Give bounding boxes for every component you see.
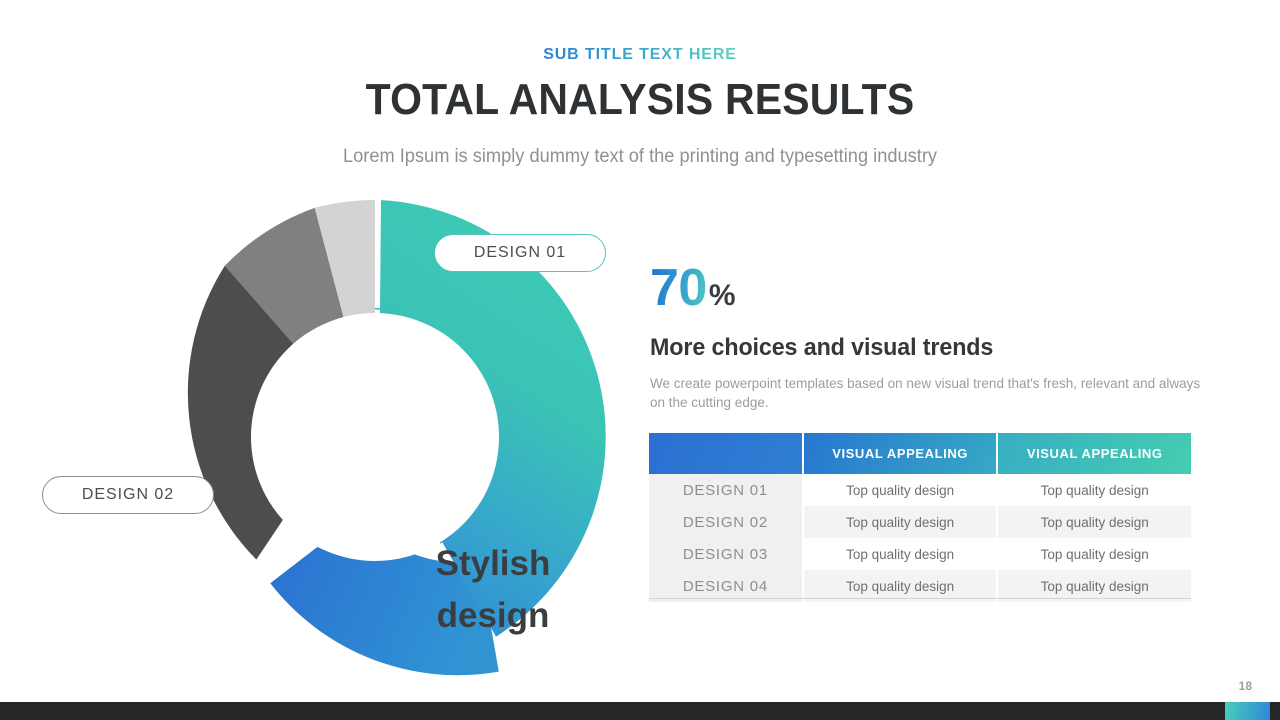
table-cell: Top quality design bbox=[803, 474, 998, 506]
table-header-blank bbox=[649, 433, 803, 474]
table-row[interactable]: DESIGN 01 Top quality design Top quality… bbox=[649, 474, 1191, 506]
stat-percentage-symbol: % bbox=[709, 281, 736, 311]
slide-header: SUB TITLE TEXT HERE TOTAL ANALYSIS RESUL… bbox=[0, 0, 1280, 169]
page-number: 18 bbox=[1239, 679, 1252, 693]
table-head: VISUAL APPEALING VISUAL APPEALING bbox=[649, 433, 1191, 474]
table-row-label: DESIGN 01 bbox=[649, 474, 803, 506]
footer-accent-block bbox=[1225, 702, 1270, 720]
slide-subtitle: SUB TITLE TEXT HERE bbox=[543, 45, 737, 65]
callout-pill-design01[interactable]: DESIGN 01 bbox=[434, 234, 606, 272]
callout-pill-design02-label: DESIGN 02 bbox=[82, 486, 174, 504]
callout-pill-design01-label: DESIGN 01 bbox=[474, 244, 566, 262]
table-row[interactable]: DESIGN 02 Top quality design Top quality… bbox=[649, 506, 1191, 538]
stat-body-text: We create powerpoint templates based on … bbox=[650, 374, 1208, 412]
page-title: TOTAL ANALYSIS RESULTS bbox=[45, 74, 1235, 126]
table-cell: Top quality design bbox=[803, 506, 998, 538]
comparison-table: VISUAL APPEALING VISUAL APPEALING DESIGN… bbox=[649, 433, 1191, 602]
table-bottom-divider bbox=[649, 598, 1191, 599]
table-cell: Top quality design bbox=[997, 538, 1191, 570]
stat-heading: More choices and visual trends bbox=[650, 334, 1193, 362]
table-row[interactable]: DESIGN 03 Top quality design Top quality… bbox=[649, 538, 1191, 570]
table-body: DESIGN 01 Top quality design Top quality… bbox=[649, 474, 1191, 602]
footer-bar bbox=[0, 702, 1280, 720]
table-cell: Top quality design bbox=[997, 506, 1191, 538]
donut-inner-hole bbox=[251, 313, 499, 561]
table-row-label: DESIGN 03 bbox=[649, 538, 803, 570]
table-header-row: VISUAL APPEALING VISUAL APPEALING bbox=[649, 433, 1191, 474]
table-header-col2: VISUAL APPEALING bbox=[997, 433, 1191, 474]
table-cell: Top quality design bbox=[803, 538, 998, 570]
stat-percentage: 70 % bbox=[650, 262, 1210, 314]
stat-percentage-number: 70 bbox=[650, 262, 707, 314]
callout-pill-design02[interactable]: DESIGN 02 bbox=[42, 476, 214, 514]
table-row-label: DESIGN 02 bbox=[649, 506, 803, 538]
table-header-col1: VISUAL APPEALING bbox=[803, 433, 998, 474]
table-cell: Top quality design bbox=[997, 474, 1191, 506]
stat-panel: 70 % More choices and visual trends We c… bbox=[650, 262, 1210, 412]
slide-lead-text: Lorem Ipsum is simply dummy text of the … bbox=[26, 145, 1255, 169]
